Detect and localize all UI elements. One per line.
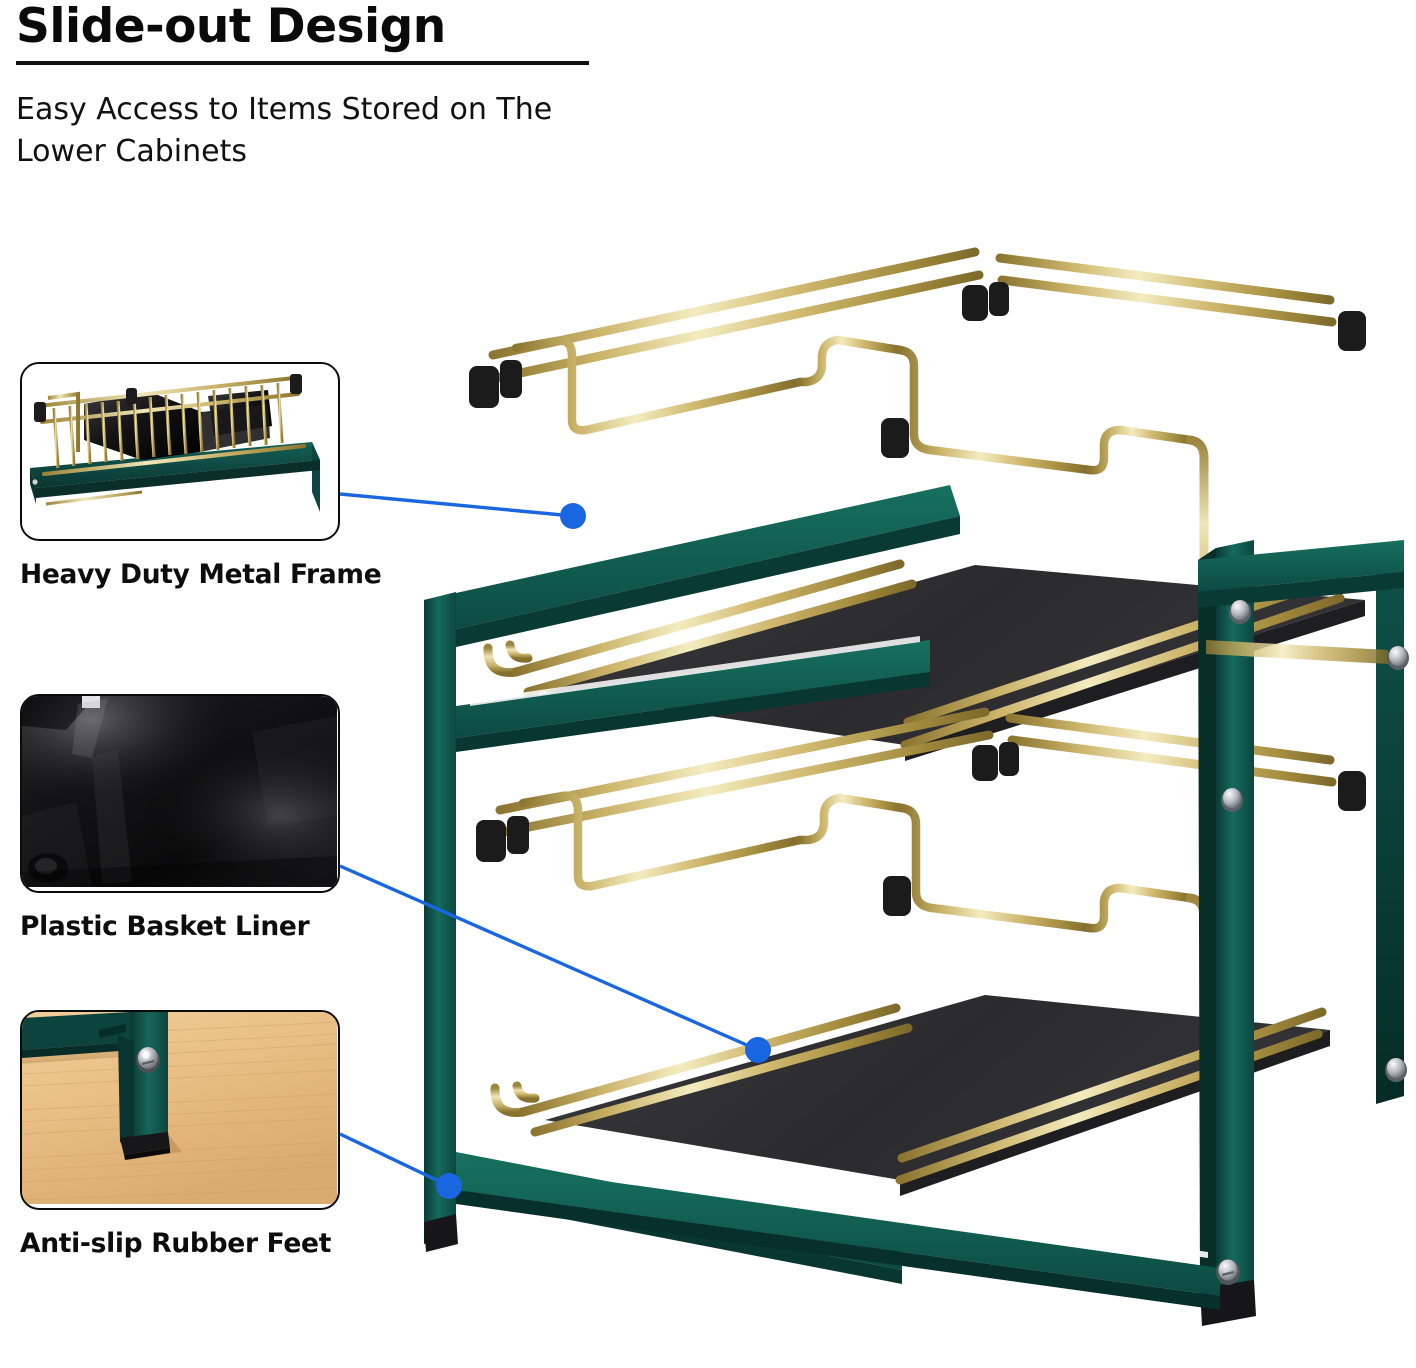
frame-post-front-right-shade bbox=[1198, 548, 1216, 1310]
connector-dot-anti-slip-rubber-feet bbox=[436, 1173, 462, 1199]
screw bbox=[1216, 1259, 1240, 1285]
product-render bbox=[0, 0, 1416, 1368]
product-illustration bbox=[0, 0, 1416, 1368]
connector-dot-heavy-duty-metal-frame bbox=[560, 503, 586, 529]
bottom-front-cross-rail-edge bbox=[456, 1190, 1220, 1310]
screw bbox=[1387, 646, 1409, 670]
frame-post-back-right bbox=[1376, 540, 1404, 1104]
connector-dot-plastic-basket-liner bbox=[745, 1037, 771, 1063]
screw bbox=[1385, 1058, 1407, 1082]
screw bbox=[1229, 600, 1251, 624]
left-post-midsection bbox=[424, 692, 456, 798]
bottom-front-cross-rail bbox=[456, 1160, 1220, 1296]
screw bbox=[1221, 788, 1243, 812]
